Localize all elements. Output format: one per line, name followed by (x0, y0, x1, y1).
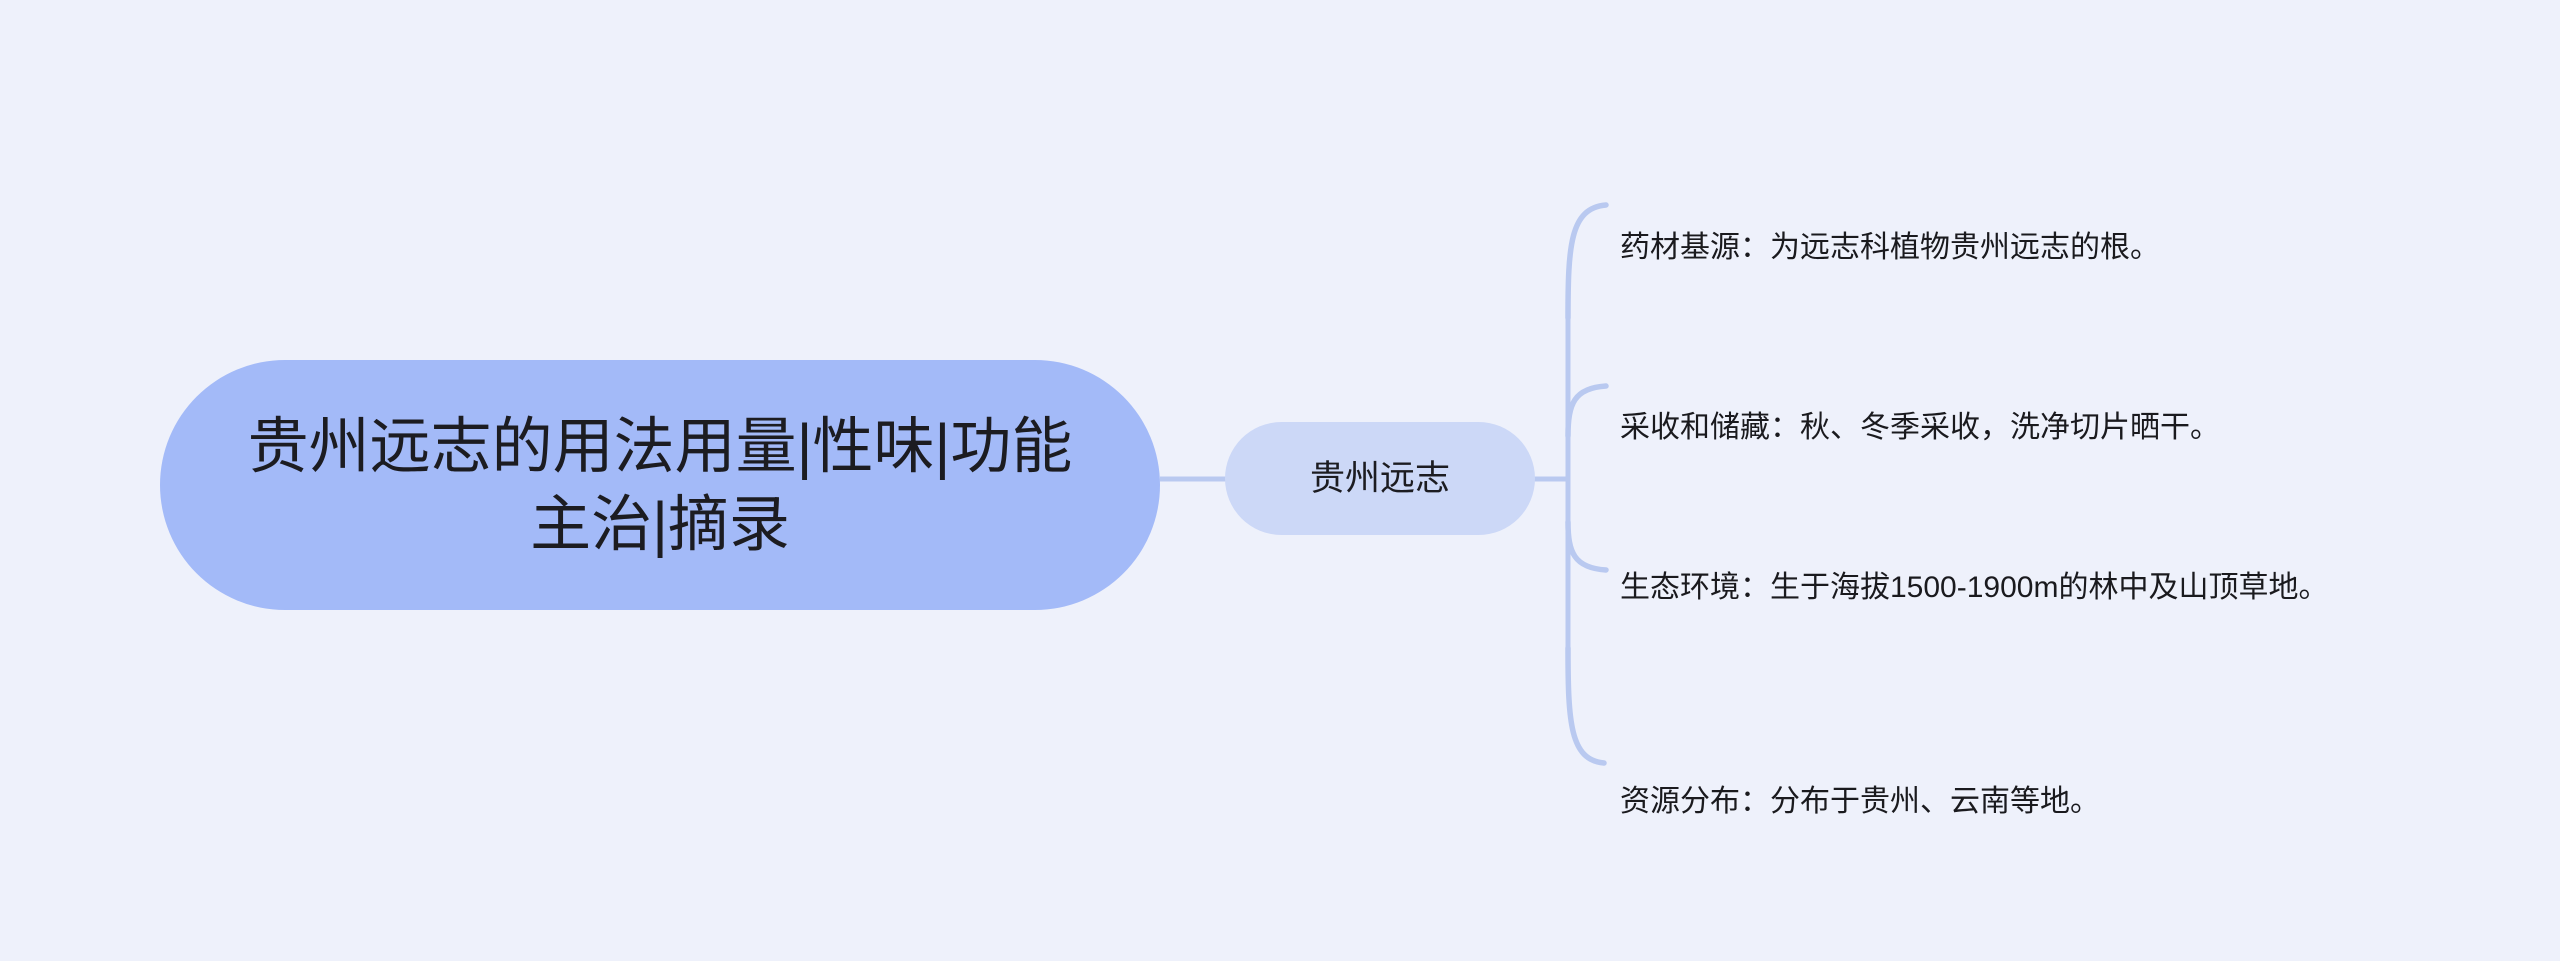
leaf-node-2[interactable]: 采收和储藏：秋、冬季采收，洗净切片晒干。 (1620, 364, 2500, 449)
connector-branch-leaf-3 (1568, 522, 1606, 570)
leaf-node-1[interactable]: 药材基源：为远志科植物贵州远志的根。 (1620, 184, 2480, 269)
middle-node[interactable]: 贵州远志 (1225, 422, 1535, 535)
leaf-node-4-label: 资源分布：分布于贵州、云南等地。 (1620, 785, 2100, 818)
connector-branch-leaf-4 (1568, 648, 1604, 763)
root-node-label: 贵州远志的用法用量|性味|功能主治|摘录 (230, 407, 1090, 563)
root-node[interactable]: 贵州远志的用法用量|性味|功能主治|摘录 (160, 360, 1160, 610)
connector-branch-leaf-1 (1568, 205, 1606, 318)
mindmap-canvas: 贵州远志的用法用量|性味|功能主治|摘录 贵州远志 药材基源：为远志科植物贵州远… (0, 0, 2560, 961)
connector-branch-leaf-2 (1568, 386, 1606, 436)
leaf-node-2-label: 采收和储藏：秋、冬季采收，洗净切片晒干。 (1620, 411, 2220, 444)
leaf-node-4[interactable]: 资源分布：分布于贵州、云南等地。 (1620, 738, 2480, 823)
middle-node-label: 贵州远志 (1310, 458, 1450, 500)
leaf-node-3[interactable]: 生态环境：生于海拔1500-1900m的林中及山顶草地。 (1620, 524, 2380, 609)
leaf-node-1-label: 药材基源：为远志科植物贵州远志的根。 (1620, 231, 2160, 264)
leaf-node-3-label: 生态环境：生于海拔1500-1900m的林中及山顶草地。 (1620, 571, 2328, 604)
